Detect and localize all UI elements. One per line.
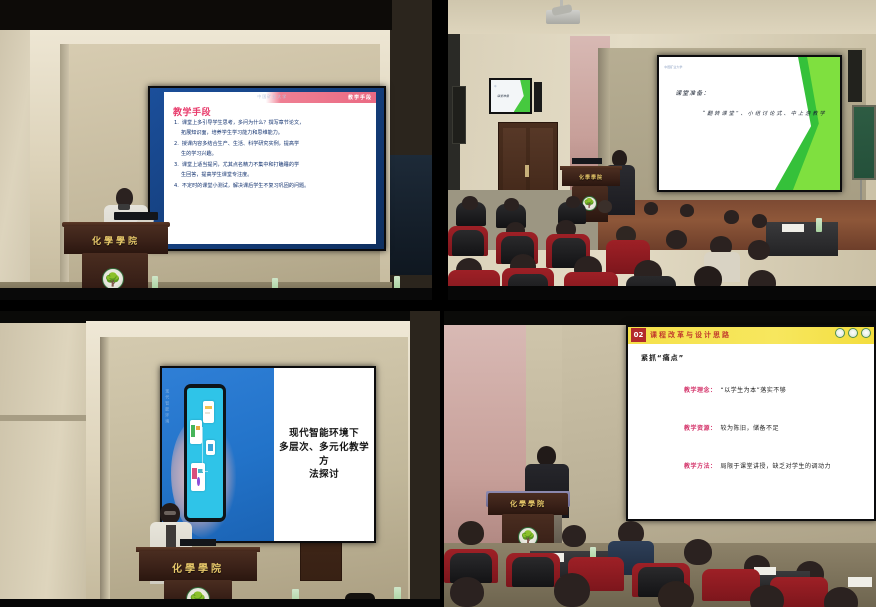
wall-cabinet [848, 50, 862, 102]
bullet-text: 拓展知识面，培养学生学习能力和思维能力。 [181, 129, 283, 138]
podium-label: 化學學院 [562, 174, 620, 181]
slide-section-number: 02 [631, 328, 646, 342]
slide-point-row: 教学资源： 较为陈旧，储备不足 [684, 423, 779, 432]
slide-handwriting: 中国矿业大学 课堂准备： “翻转课堂”、小组讨论式、中上游教学 [659, 57, 840, 190]
audience-head [666, 230, 687, 249]
podium-label: 化學學院 [139, 560, 257, 575]
foreground-shadow [0, 599, 440, 607]
slide-bullet: 生的学习兴趣。 [174, 150, 371, 159]
point-value: 较为陈旧，储备不足 [721, 423, 780, 432]
right-screen-edge [390, 155, 432, 275]
slide-side-text: 现代智能环境 [164, 389, 170, 425]
slide-bullet: 4. 不定时的课堂小测试，解决课后学生不复习巩固的问题。 [174, 182, 371, 191]
audience-area [448, 196, 808, 300]
card-icon [191, 425, 195, 437]
podium-face: 化學學院 [64, 226, 168, 254]
green-chalkboard [852, 105, 876, 180]
photo-panel-bottom-left[interactable]: 现代智能环境 [0, 311, 440, 607]
slide-title: 教学手段 [173, 105, 211, 118]
podium-label: 化學學院 [488, 499, 568, 509]
audience-head [684, 539, 712, 565]
bullet-text: 生回答，提高学生课堂专注度。 [181, 171, 252, 180]
slide-bullet: 拓展知识面，培养学生学习能力和思维能力。 [174, 129, 371, 138]
audience-head [724, 210, 739, 224]
point-key: 教学理念： [684, 385, 717, 394]
foreground-shadow [0, 288, 432, 300]
point-key: 教学方法： [684, 461, 717, 470]
slide-teaching-methods: 中国矿业大学 教学手段 教学手段 1. 课堂上多引导学生思考，多问为什么？撰写章… [164, 92, 376, 244]
university-emblem-icon [835, 328, 845, 338]
point-value: “以学生为本”落实不够 [721, 385, 787, 394]
tree-icon: 🌳 [105, 273, 121, 286]
card-icon [208, 444, 213, 451]
seat-cushion [452, 230, 484, 256]
slide-main-title: 现代智能环境下 多层次、多元化教学方 法探讨 [274, 427, 374, 482]
audience-head [450, 577, 484, 607]
monitor-logo: 中 [494, 84, 497, 88]
bullet-text: 不定时的课堂小测试，解决课后学生不复习巩固的问题。 [182, 182, 309, 191]
title-line-3: 法探讨 [274, 468, 374, 482]
university-emblem-icon [848, 328, 858, 338]
wall-left [0, 323, 92, 607]
wall-edge-shadow [100, 337, 110, 607]
bullet-number: 2. [174, 140, 179, 149]
photo-grid: 中国矿业大学 教学手段 教学手段 1. 课堂上多引导学生思考，多问为什么？撰写章… [0, 0, 876, 607]
water-bottle [816, 218, 822, 232]
monitor-green-shape [514, 80, 530, 112]
card-bar [196, 426, 200, 430]
university-emblem-icon [861, 328, 871, 338]
audience-head [462, 196, 478, 210]
audience-head [504, 198, 519, 211]
projection-screen[interactable]: 中国矿业大学 教学手段 教学手段 1. 课堂上多引导学生思考，多问为什么？撰写章… [148, 86, 386, 251]
bullet-text: 生的学习兴趣。 [181, 150, 217, 159]
slide-bullet: 2. 授课内容多结合生产、生活、科学研究实例，提高学 [174, 140, 371, 149]
bullet-number: 1. [174, 119, 179, 128]
smartphone-illustration [184, 384, 226, 522]
photo-panel-top-left[interactable]: 中国矿业大学 教学手段 教学手段 1. 课堂上多引导学生思考，多问为什么？撰写章… [0, 0, 432, 300]
slide-band-title: 课程改革与设计思路 [650, 330, 731, 340]
connector-line [202, 427, 203, 471]
foreground-shadow [448, 286, 876, 300]
presenter-collar [118, 204, 130, 210]
laptop-on-podium [114, 212, 158, 220]
podium[interactable]: 化學學院 🌳 [136, 547, 260, 607]
app-card [203, 401, 214, 423]
slide-bullet: 1. 课堂上多引导学生思考，多问为什么？撰写章节论文， [174, 119, 371, 128]
slide-handwritten-line-2: “翻转课堂”、小组讨论式、中上游教学 [702, 110, 826, 117]
title-line-2: 多层次、多元化教学方 [274, 441, 374, 469]
name-card [848, 577, 872, 587]
point-value: 局限于课堂讲授，缺乏对学生的调动力 [721, 461, 832, 470]
monitor-handwriting: 课堂准备 [497, 94, 509, 98]
audience-head [562, 525, 586, 547]
audience-head [566, 196, 580, 208]
bullet-number: 4. [174, 182, 179, 191]
bullet-text: 课堂上多引导学生思考，多问为什么？撰写章节论文， [182, 119, 304, 128]
app-card [191, 463, 205, 490]
card-bar [205, 412, 210, 414]
monitor-screen: 中 课堂准备 [491, 80, 530, 112]
audience-head [748, 240, 770, 260]
connector-line [202, 471, 208, 472]
slide-bullet: 生回答，提高学生课堂专注度。 [174, 171, 371, 180]
bullet-text: 课堂上适当提问，尤其点名精力不集中和打瞌睡的学 [182, 161, 299, 170]
confidence-monitor[interactable]: 中 课堂准备 [489, 78, 532, 114]
bullet-text: 授课内容多结合生产、生活、科学研究实例，提高学 [182, 140, 299, 149]
slide-corner-logo: 中国矿业大学 [664, 65, 682, 69]
audience-head [750, 585, 784, 607]
card-icon [197, 477, 200, 485]
podium-label: 化學學院 [64, 234, 168, 247]
photo-panel-bottom-right[interactable]: 02 课程改革与设计思路 紧抓“痛点” 教学理念： “以学生为本”落实不够 教学… [444, 311, 876, 607]
phone-screen [187, 388, 223, 518]
app-card [206, 440, 215, 456]
seat-cushion [512, 557, 554, 587]
photo-panel-top-right[interactable]: 中国矿业大学 课堂准备： “翻转课堂”、小组讨论式、中上游教学 中 课堂准备 [448, 0, 876, 300]
laptop-on-podium [572, 158, 602, 164]
app-card [190, 420, 202, 443]
laptop-on-podium [180, 539, 216, 546]
slide-bullet-list: 1. 课堂上多引导学生思考，多问为什么？撰写章节论文， 拓展知识面，培养学生学习… [174, 119, 371, 192]
slide-pain-points: 02 课程改革与设计思路 紧抓“痛点” 教学理念： “以学生为本”落实不够 教学… [628, 327, 874, 519]
card-icon [192, 468, 196, 479]
card-bar [205, 406, 212, 409]
title-line-1: 现代智能环境下 [274, 427, 374, 441]
slide-emblem-group [835, 328, 871, 338]
slide-banner-tag: 教学手段 [348, 93, 372, 102]
podium-face: 化學學院 [488, 493, 568, 515]
projection-screen[interactable]: 中国矿业大学 课堂准备： “翻转课堂”、小组讨论式、中上游教学 [657, 55, 842, 192]
ceiling [448, 0, 876, 34]
audience-head [458, 521, 484, 545]
projection-screen[interactable]: 02 课程改革与设计思路 紧抓“痛点” 教学理念： “以学生为本”落实不够 教学… [626, 325, 876, 521]
podium-face: 化學學院 [139, 551, 257, 581]
glasses-icon [164, 511, 176, 515]
presenter-head [537, 446, 556, 466]
slide-point-row: 教学方法： 局限于课堂讲授，缺乏对学生的调动力 [684, 461, 831, 470]
audience-area [444, 515, 876, 607]
slide-faint-logo: 中国矿业大学 [257, 94, 287, 100]
audience-head [824, 587, 858, 607]
podium-emblem: 🌳 [102, 268, 124, 290]
wall-notice-board [452, 86, 466, 144]
slide-handwritten-line-1: 课堂准备： [675, 88, 710, 97]
slide-right-panel: 现代智能环境下 多层次、多元化教学方 法探讨 [274, 368, 374, 541]
audience-head [752, 214, 767, 228]
door-handle [525, 165, 529, 177]
bullet-number: 3. [174, 161, 179, 170]
ceiling-shadow [0, 0, 432, 30]
wall-speaker [534, 82, 542, 112]
audience-head [598, 200, 612, 213]
point-key: 教学资源： [684, 423, 717, 432]
wall-trim [0, 415, 96, 421]
slide-lead-text: 紧抓“痛点” [641, 353, 684, 363]
slide-point-row: 教学理念： “以学生为本”落实不够 [684, 385, 786, 394]
wall-right-dark [410, 311, 440, 607]
podium-face: 化學學院 [562, 169, 620, 186]
audience-head [658, 581, 694, 607]
audience-head [644, 202, 658, 215]
audience-head [554, 573, 590, 607]
audience-head [680, 204, 694, 217]
slide-bullet: 3. 课堂上适当提问，尤其点名精力不集中和打瞌睡的学 [174, 161, 371, 170]
